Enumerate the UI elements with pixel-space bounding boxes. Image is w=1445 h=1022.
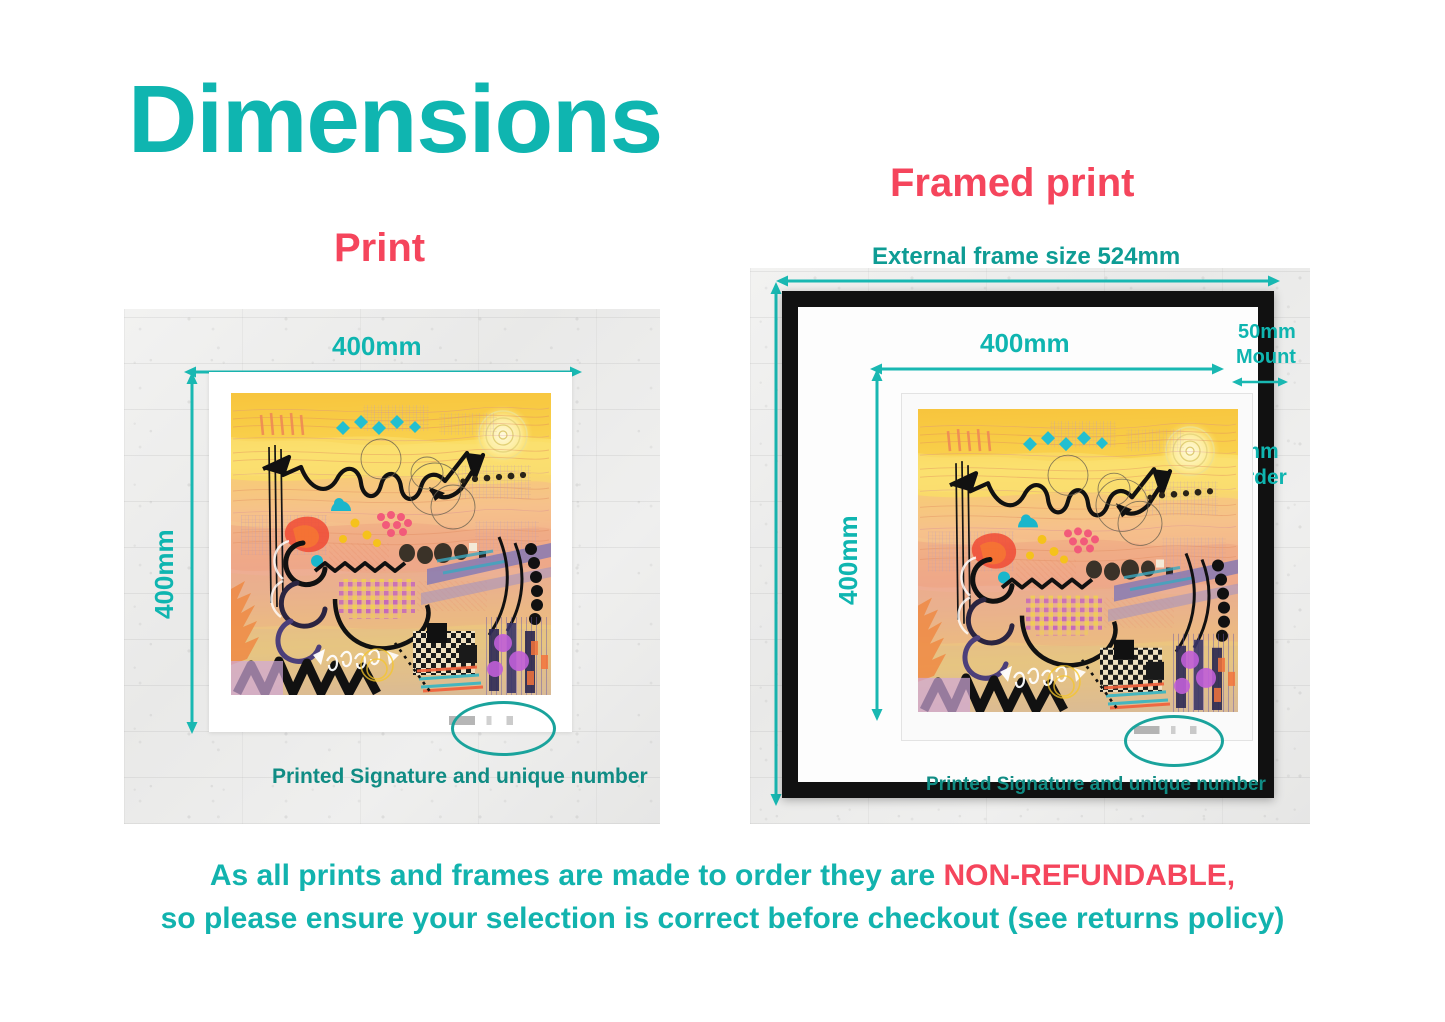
external-frame-size-label: External frame size 524mm: [872, 245, 1180, 269]
artwork-strokes: [918, 409, 1238, 712]
framed-artwork-height-arrow: [870, 369, 884, 721]
artwork-image: [231, 393, 551, 695]
framed-signature-caption: Printed Signature and unique number: [926, 775, 1266, 794]
external-frame-width-arrow: [776, 274, 1280, 288]
mount-width-arrow: [1232, 375, 1288, 389]
framed-wall-background: 400mm 400mm 50mm Mount: [750, 268, 1310, 824]
artwork-strokes: [231, 393, 551, 695]
print-signature-highlight-ellipse: [451, 701, 556, 756]
framed-print-paper: [901, 393, 1253, 741]
footer-line-1: As all prints and frames are made to ord…: [0, 855, 1445, 898]
footer-non-refundable: NON-REFUNDABLE,: [943, 859, 1235, 892]
mount-label-text: Mount: [1236, 347, 1296, 369]
artwork-image: [918, 409, 1238, 712]
print-wall-background: 400mm 400mm 20mm Border: [124, 309, 660, 824]
print-height-arrow: [185, 372, 199, 734]
framed-width-label: 400mm: [980, 329, 1070, 357]
framed-section-title: Framed print: [890, 163, 1134, 203]
external-frame-height-arrow: [769, 282, 783, 806]
page-title: Dimensions: [128, 72, 662, 168]
framed-artwork-width-arrow: [870, 362, 1224, 376]
print-section-title: Print: [334, 228, 425, 268]
footer-disclaimer: As all prints and frames are made to ord…: [0, 855, 1445, 940]
framed-signature-highlight-ellipse: [1124, 715, 1224, 767]
frame-mount: 400mm 400mm 50mm Mount: [798, 307, 1258, 782]
print-signature-caption: Printed Signature and unique number: [272, 766, 648, 787]
framed-height-label: 400mm: [834, 515, 862, 605]
mount-label-value: 50mm: [1238, 322, 1296, 344]
footer-line-2: so please ensure your selection is corre…: [0, 898, 1445, 941]
print-width-label: 400mm: [332, 332, 422, 360]
picture-frame: 400mm 400mm 50mm Mount: [782, 291, 1274, 798]
print-paper: [209, 372, 572, 732]
page-canvas: Dimensions Print Framed print External f…: [0, 0, 1445, 1022]
footer-line-1-text: As all prints and frames are made to ord…: [210, 859, 944, 892]
print-height-label: 400mm: [150, 529, 178, 619]
